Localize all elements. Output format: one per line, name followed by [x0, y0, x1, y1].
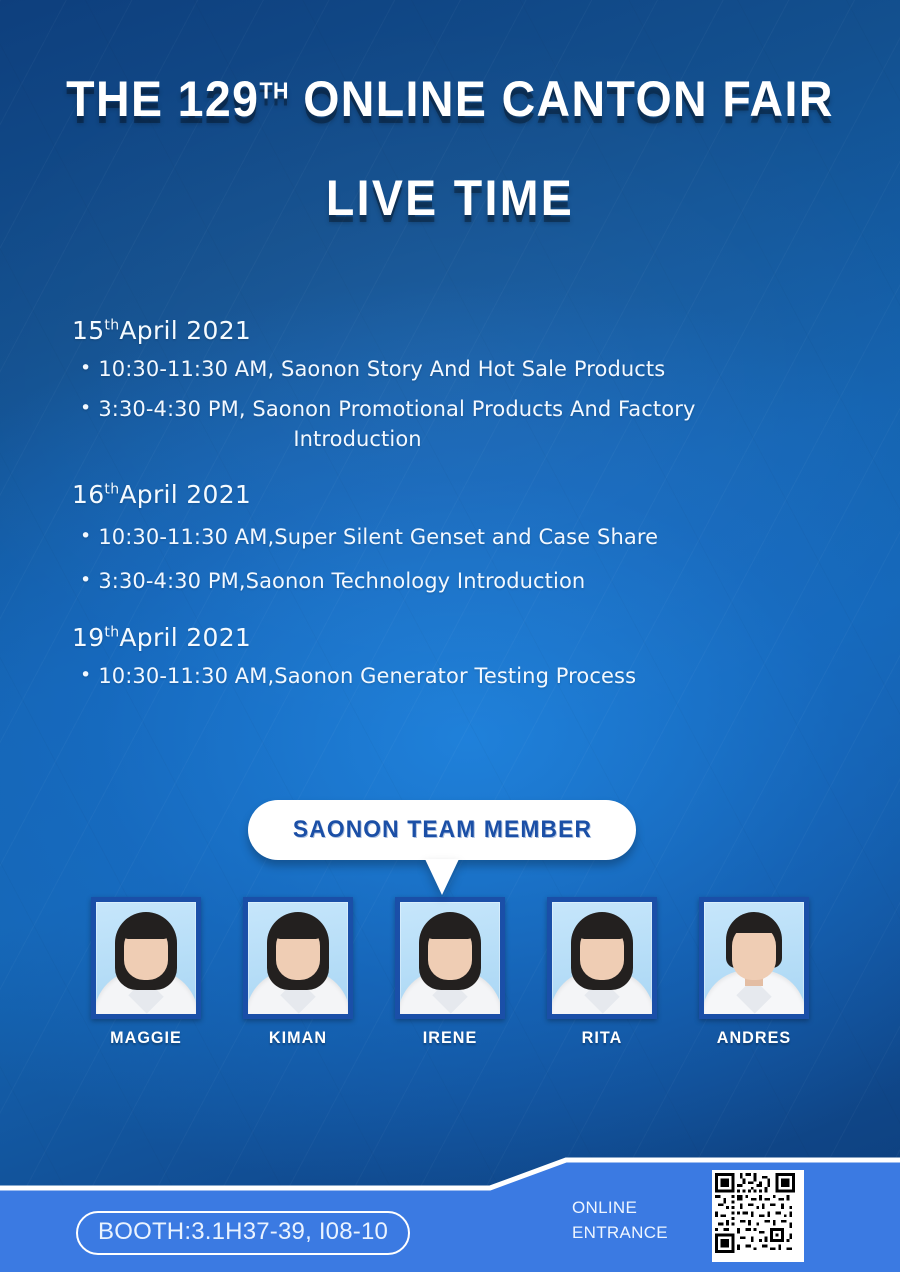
portrait-fringe [730, 919, 778, 933]
bullet-icon: • [80, 662, 91, 689]
member-name: KIMAN [241, 1028, 355, 1048]
schedule-list: 15thApril 2021 • 10:30-11:30 AM, Saonon … [72, 316, 862, 718]
member-name: IRENE [393, 1028, 507, 1048]
schedule-date: 16thApril 2021 [72, 480, 862, 509]
member-photo-frame [243, 897, 353, 1019]
member-name: MAGGIE [89, 1028, 203, 1048]
team-member: ANDRES [694, 897, 814, 1048]
schedule-item: • 10:30-11:30 AM, Saonon Story And Hot S… [72, 355, 862, 385]
entrance-line-2: ENTRANCE [572, 1221, 668, 1246]
team-bubble-label: SAONON TEAM MEMBER [292, 816, 591, 844]
entrance-line-1: ONLINE [572, 1196, 668, 1221]
schedule-item: • 10:30-11:30 AM,Saonon Generator Testin… [72, 662, 862, 692]
team-member: KIMAN [238, 897, 358, 1048]
schedule-day-ordinal: th [104, 318, 119, 334]
schedule-group: 19thApril 2021 • 10:30-11:30 AM,Saonon G… [72, 623, 862, 692]
qr-code-icon[interactable] [712, 1170, 804, 1262]
schedule-item-text: 3:30-4:30 PM, Saonon Promotional Product… [98, 395, 862, 455]
title-main-text: THE 129 [66, 71, 259, 127]
title-line-1: THE 129TH ONLINE CANTON FAIR [32, 74, 869, 125]
team-bubble: SAONON TEAM MEMBER [248, 800, 636, 860]
bullet-icon: • [80, 523, 91, 550]
schedule-item: • 3:30-4:30 PM,Saonon Technology Introdu… [72, 567, 862, 597]
schedule-month-year: April 2021 [119, 623, 251, 652]
title-ordinal-superscript: TH [259, 77, 288, 103]
title-line-2: LIVE TIME [32, 173, 869, 224]
team-bubble-tail-icon [425, 859, 459, 895]
schedule-month-year: April 2021 [119, 316, 251, 345]
schedule-item-text: 10:30-11:30 AM, Saonon Story And Hot Sal… [98, 355, 862, 385]
team-bubble-body: SAONON TEAM MEMBER [248, 800, 636, 860]
schedule-day-number: 19 [72, 623, 104, 652]
team-member-list: MAGGIE KIMAN IRENE [0, 897, 900, 1048]
portrait-fringe [123, 919, 169, 939]
schedule-item-continuation: Introduction [98, 425, 862, 455]
member-photo-frame [699, 897, 809, 1019]
schedule-day-ordinal: th [104, 482, 119, 498]
bullet-icon: • [80, 355, 91, 382]
schedule-group: 15thApril 2021 • 10:30-11:30 AM, Saonon … [72, 316, 862, 454]
schedule-group: 16thApril 2021 • 10:30-11:30 AM,Super Si… [72, 480, 862, 597]
portrait-fringe [427, 919, 473, 939]
schedule-month-year: April 2021 [119, 480, 251, 509]
schedule-day-ordinal: th [104, 625, 119, 641]
booth-badge: BOOTH:3.1H37-39, I08-10 [76, 1211, 410, 1255]
schedule-item-text: 10:30-11:30 AM,Super Silent Genset and C… [98, 523, 862, 553]
schedule-item-text: 3:30-4:30 PM,Saonon Technology Introduct… [98, 567, 862, 597]
team-member: RITA [542, 897, 662, 1048]
member-photo-frame [91, 897, 201, 1019]
bullet-icon: • [80, 395, 91, 422]
bullet-icon: • [80, 567, 91, 594]
team-member: MAGGIE [86, 897, 206, 1048]
title-suffix-text: ONLINE CANTON FAIR [289, 71, 834, 127]
portrait-fringe [275, 919, 321, 939]
schedule-day-number: 15 [72, 316, 104, 345]
schedule-day-number: 16 [72, 480, 104, 509]
member-name: RITA [545, 1028, 659, 1048]
member-photo-frame [547, 897, 657, 1019]
poster-canvas: THE 129TH ONLINE CANTON FAIR LIVE TIME 1… [0, 0, 900, 1272]
portrait-fringe [579, 919, 625, 939]
poster-headline: THE 129TH ONLINE CANTON FAIR LIVE TIME [0, 74, 900, 224]
schedule-item: • 10:30-11:30 AM,Super Silent Genset and… [72, 523, 862, 553]
team-member: IRENE [390, 897, 510, 1048]
schedule-item-text: 10:30-11:30 AM,Saonon Generator Testing … [98, 662, 862, 692]
member-name: ANDRES [697, 1028, 811, 1048]
schedule-item-main: 3:30-4:30 PM, Saonon Promotional Product… [98, 397, 695, 421]
schedule-date: 19thApril 2021 [72, 623, 862, 652]
member-photo-frame [395, 897, 505, 1019]
schedule-date: 15thApril 2021 [72, 316, 862, 345]
online-entrance-label: ONLINE ENTRANCE [572, 1196, 668, 1245]
schedule-item: • 3:30-4:30 PM, Saonon Promotional Produ… [72, 395, 862, 455]
